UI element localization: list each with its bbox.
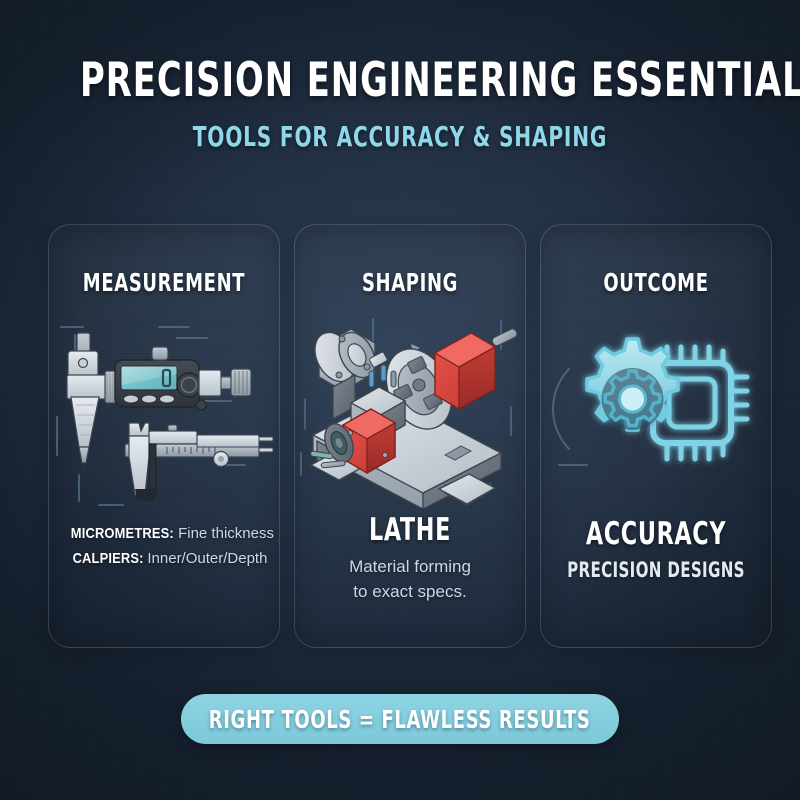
caption-key-micrometres: MICROMETRES: [71,521,174,546]
metal-lathe-illustration [295,303,525,508]
caption-value-micrometres: Fine thickness [174,525,274,542]
caption-line-micrometres: MICROMETRES: Fine thickness [49,521,279,546]
gear-glyph [587,339,678,430]
caption-headline-lathe: LATHE [318,513,502,547]
micrometer-and-caliper-illustration [49,305,279,515]
card-measurement[interactable]: MEASUREMENT [48,224,280,648]
footer-banner[interactable]: RIGHT TOOLS = FLAWLESS RESULTS [181,694,619,744]
gear-and-microchip-icon [541,313,771,503]
card-shaping[interactable]: SHAPING [294,224,526,648]
caption-line-2-shaping: to exact specs. [295,579,525,604]
chip-glyph [653,347,747,459]
card-outcome[interactable]: OUTCOME [540,224,772,648]
caption-line-1-outcome: PRECISION DESIGNS [564,557,748,583]
caption-value-calpiers: Inner/Outer/Depth [143,550,267,567]
page-subtitle: TOOLS FOR ACCURACY & SHAPING [80,122,720,152]
card-title-measurement: MEASUREMENT [72,268,256,297]
footer-banner-text: RIGHT TOOLS = FLAWLESS RESULTS [209,705,591,734]
card-title-shaping: SHAPING [318,268,502,297]
caption-key-calpiers: CALPIERS: [72,546,143,571]
page-title: PRECISION ENGINEERING ESSENTIALS [80,56,720,106]
card-title-outcome: OUTCOME [564,268,748,297]
caption-line-calpiers: CALPIERS: Inner/Outer/Depth [49,546,279,571]
caption-headline-accuracy: ACCURACY [564,517,748,551]
caption-line-1-shaping: Material forming [295,554,525,579]
infographic-canvas: PRECISION ENGINEERING ESSENTIALS TOOLS F… [0,0,800,800]
caption-outcome: ACCURACY PRECISION DESIGNS [541,517,771,583]
header: PRECISION ENGINEERING ESSENTIALS TOOLS F… [0,0,800,152]
vernier-caliper [125,423,273,501]
caption-measurement: MICROMETRES: Fine thickness CALPIERS: In… [49,521,279,571]
caption-shaping: LATHE Material forming to exact specs. [295,513,525,604]
